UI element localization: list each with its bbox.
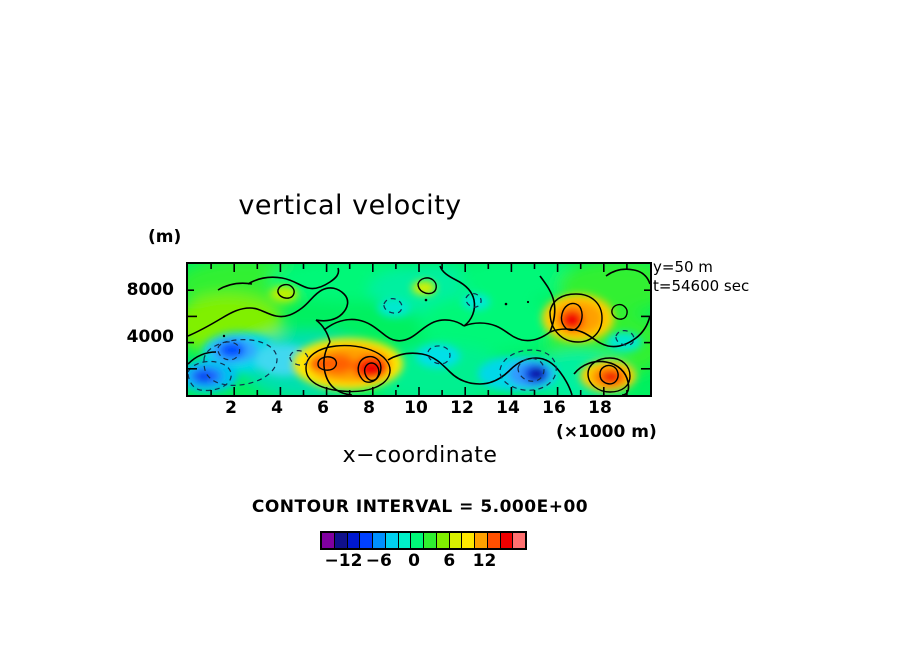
xtick-label-6: 6 [303, 398, 343, 418]
xtick-label-10: 10 [396, 398, 436, 418]
colorbar-swatch [475, 533, 488, 548]
xtick-label-8: 8 [349, 398, 389, 418]
colorbar-swatch [335, 533, 348, 548]
xtick-label-12: 12 [442, 398, 482, 418]
page-title: vertical velocity [0, 190, 700, 221]
figure-container: vertical velocity (m) [0, 0, 904, 654]
x-axis-title: x−coordinate [0, 443, 840, 468]
colorbar-swatch [373, 533, 386, 548]
colorbar-swatch [348, 533, 361, 548]
colorbar-swatch [424, 533, 437, 548]
contour-field [188, 264, 650, 395]
colorbar-swatch [513, 533, 525, 548]
y-axis-unit-label: (m) [148, 227, 181, 247]
annotation-y-level: y=50 m [653, 258, 749, 277]
colorbar-swatch [360, 533, 373, 548]
colorbar-swatch [488, 533, 501, 548]
xtick-label-2: 2 [211, 398, 251, 418]
xtick-label-4: 4 [257, 398, 297, 418]
ytick-label-4000: 4000 [114, 327, 174, 347]
annotation-time: t=54600 sec [653, 277, 749, 296]
colorbar-tick-labels: −12−60612 [320, 551, 508, 573]
colorbar-swatch [462, 533, 475, 548]
colorbar-swatch [386, 533, 399, 548]
colorbar [320, 531, 527, 550]
colorbar-swatch [437, 533, 450, 548]
colorbar-swatch [322, 533, 335, 548]
colorbar-swatch [411, 533, 424, 548]
ytick-label-8000: 8000 [114, 280, 174, 300]
contour-plot-area [186, 262, 652, 397]
xtick-label-18: 18 [580, 398, 620, 418]
x-axis-unit-label: (×1000 m) [556, 422, 657, 442]
plot-annotations: y=50 m t=54600 sec [653, 258, 749, 296]
xtick-label-16: 16 [534, 398, 574, 418]
xtick-label-14: 14 [488, 398, 528, 418]
contour-interval-caption: CONTOUR INTERVAL = 5.000E+00 [0, 497, 840, 517]
colorbar-swatch [450, 533, 463, 548]
colorbar-tick-label: 12 [463, 551, 507, 571]
colorbar-swatch [501, 533, 514, 548]
colorbar-swatch [399, 533, 412, 548]
